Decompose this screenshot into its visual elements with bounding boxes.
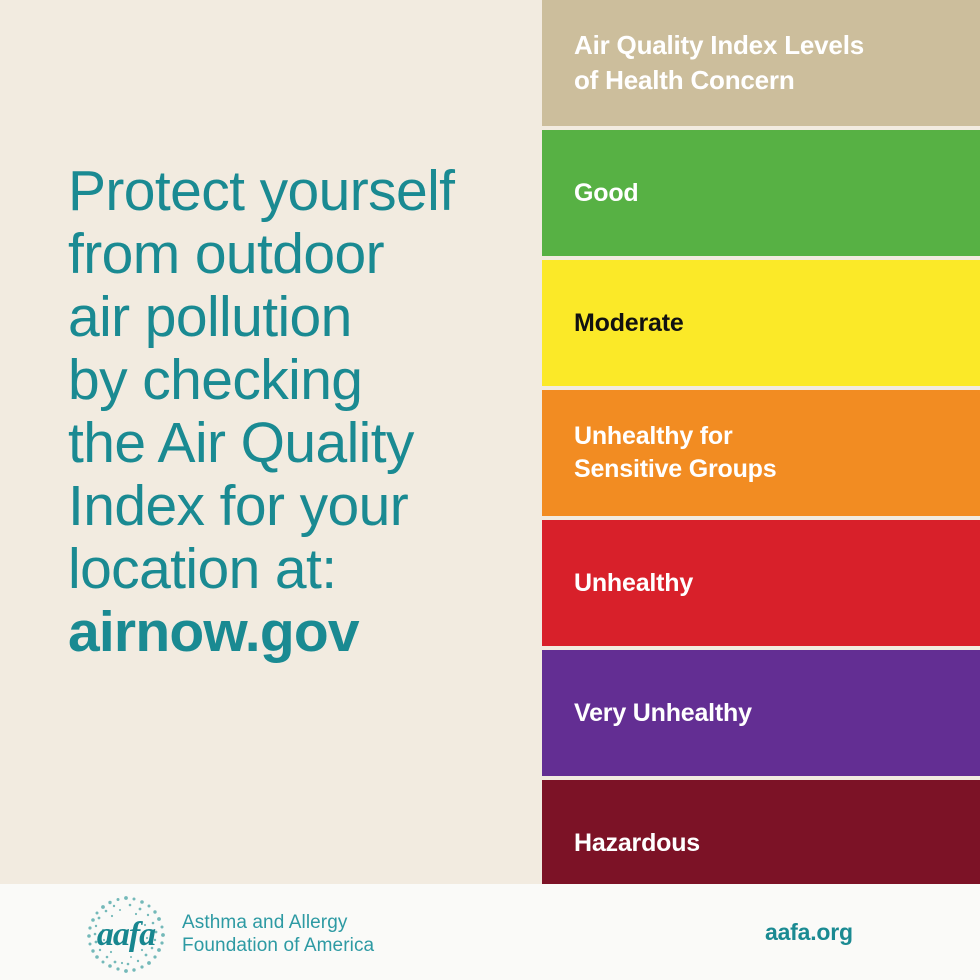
- headline-line-3: air pollution: [68, 286, 538, 349]
- svg-text:aafa: aafa: [97, 916, 156, 953]
- aqi-level-label: Hazardous: [574, 827, 700, 860]
- aqi-level-label: Unhealthy for Sensitive Groups: [574, 420, 776, 486]
- aafa-website-link[interactable]: aafa.org: [765, 919, 853, 946]
- aafa-logo-lockup[interactable]: aafa Asthma and Allergy Foundation of Am…: [84, 892, 374, 976]
- headline-line-5: the Air Quality: [68, 412, 538, 475]
- headline-line-2: from outdoor: [68, 223, 538, 286]
- headline-column: Protect yourself from outdoor air pollut…: [0, 0, 542, 884]
- poster-footer: aafa Asthma and Allergy Foundation of Am…: [0, 884, 980, 980]
- aqi-level-moderate: Moderate: [542, 260, 980, 386]
- headline-line-4: by checking: [68, 349, 538, 412]
- aqi-levels-panel: Air Quality Index Levels of Health Conce…: [542, 0, 980, 884]
- aqi-level-good: Good: [542, 130, 980, 256]
- organization-name: Asthma and Allergy Foundation of America: [182, 911, 374, 957]
- page-title: Protect yourself from outdoor air pollut…: [68, 160, 538, 664]
- poster-main-area: Protect yourself from outdoor air pollut…: [0, 0, 980, 884]
- aqi-level-label: Very Unhealthy: [574, 697, 752, 730]
- aqi-panel-header: Air Quality Index Levels of Health Conce…: [542, 0, 980, 126]
- aqi-level-label: Unhealthy: [574, 567, 693, 600]
- headline-line-7: location at:: [68, 538, 538, 601]
- aqi-infographic-poster: Protect yourself from outdoor air pollut…: [0, 0, 980, 980]
- aafa-logo-icon: aafa: [84, 892, 168, 976]
- headline-line-1: Protect yourself: [68, 160, 538, 223]
- aqi-level-label: Moderate: [574, 307, 684, 340]
- airnow-website-link[interactable]: airnow.gov: [68, 601, 538, 664]
- headline-line-6: Index for your: [68, 475, 538, 538]
- aqi-level-unhealthy-sensitive-groups: Unhealthy for Sensitive Groups: [542, 390, 980, 516]
- aqi-level-label: Good: [574, 177, 638, 210]
- aqi-level-very-unhealthy: Very Unhealthy: [542, 650, 980, 776]
- aqi-panel-header-label: Air Quality Index Levels of Health Conce…: [574, 28, 864, 98]
- aqi-level-unhealthy: Unhealthy: [542, 520, 980, 646]
